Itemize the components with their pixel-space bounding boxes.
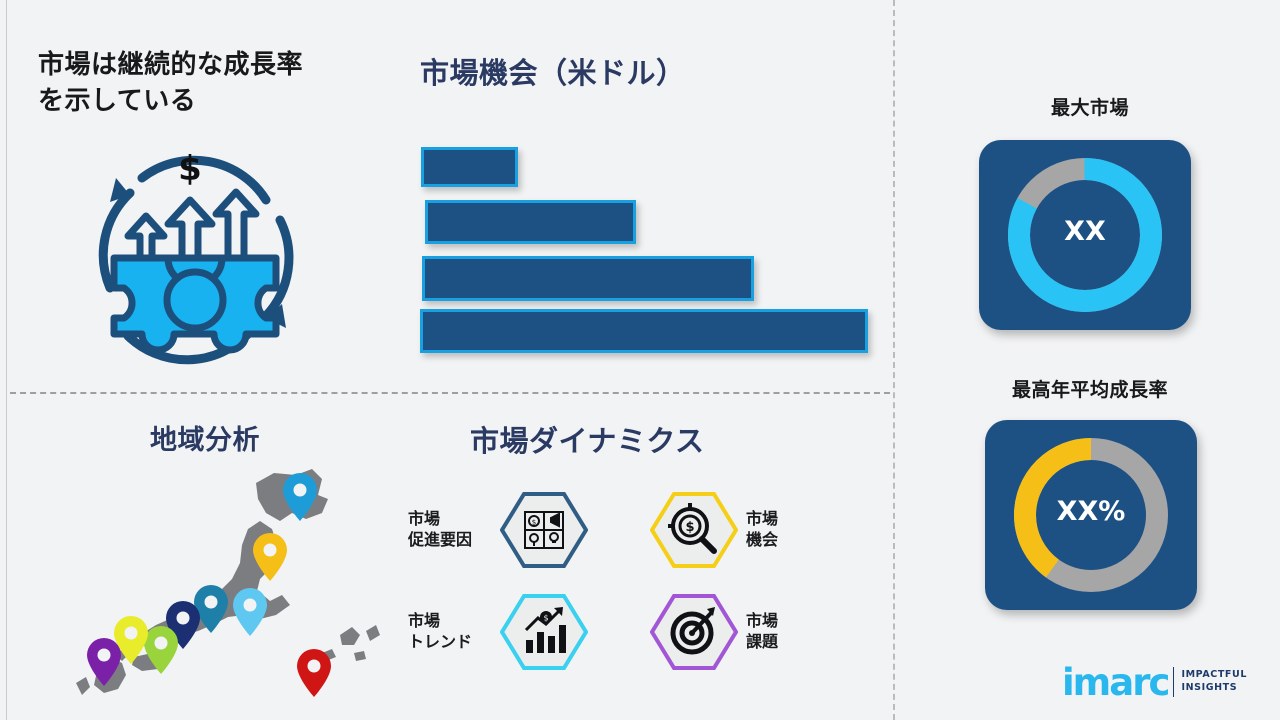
horizontal-dashed-divider: [10, 392, 890, 394]
hex-trends: $: [500, 592, 588, 672]
dynamics-label-challenges: 市場 課題: [746, 611, 778, 653]
imarc-logo: imarc IMPACTFUL INSIGHTS: [1062, 660, 1247, 704]
logo-divider: [1173, 667, 1174, 697]
svg-text:$: $: [685, 520, 694, 535]
left-border-line: [6, 0, 7, 720]
bar-1: [421, 147, 518, 187]
infographic-canvas: 市場は継続的な成長率 を示している $ 市場機会（米ドル）: [0, 0, 1280, 720]
bar-2: [425, 200, 636, 244]
dynamics-title: 市場ダイナミクス: [470, 418, 705, 460]
logo-tagline: IMPACTFUL INSIGHTS: [1181, 669, 1247, 695]
map-pin-group: [87, 473, 331, 697]
dynamics-label-trends: 市場 トレンド: [408, 611, 494, 653]
pin-okinawa: [297, 649, 331, 697]
dynamics-item-challenges[interactable]: 市場 課題: [650, 592, 778, 672]
dynamics-label-opportunities: 市場 機会: [746, 509, 778, 551]
bar-3: [422, 256, 754, 301]
dynamics-label-drivers: 市場 促進要因: [408, 509, 494, 551]
svg-text:$: $: [178, 149, 202, 189]
highest-cagr-title: 最高年平均成長率: [955, 375, 1225, 402]
opportunity-title: 市場機会（米ドル）: [420, 50, 870, 92]
largest-market-value: XX: [979, 216, 1191, 247]
largest-market-title: 最大市場: [960, 93, 1220, 120]
growth-title: 市場は継続的な成長率 を示している: [38, 48, 388, 120]
svg-text:$: $: [532, 519, 536, 527]
dynamics-item-drivers[interactable]: 市場 促進要因 $: [408, 490, 588, 570]
pin-kanto: [233, 588, 267, 636]
svg-text:$: $: [543, 614, 548, 623]
vertical-dashed-divider: [893, 0, 895, 720]
bar-4: [420, 309, 868, 353]
largest-market-card: XX: [979, 140, 1191, 330]
logo-wordmark: imarc: [1062, 664, 1168, 701]
hex-drivers: $: [500, 490, 588, 570]
dynamics-item-trends[interactable]: 市場 トレンド $: [408, 592, 588, 672]
growth-cycle-gear-icon: $: [70, 138, 320, 370]
region-title: 地域分析: [150, 418, 260, 457]
japan-map: [60, 455, 390, 705]
highest-cagr-value: XX%: [985, 496, 1197, 527]
hex-opportunities: $: [650, 490, 738, 570]
dynamics-item-opportunities[interactable]: $ 市場 機会: [650, 490, 778, 570]
highest-cagr-card: XX%: [985, 420, 1197, 610]
hex-challenges: [650, 592, 738, 672]
